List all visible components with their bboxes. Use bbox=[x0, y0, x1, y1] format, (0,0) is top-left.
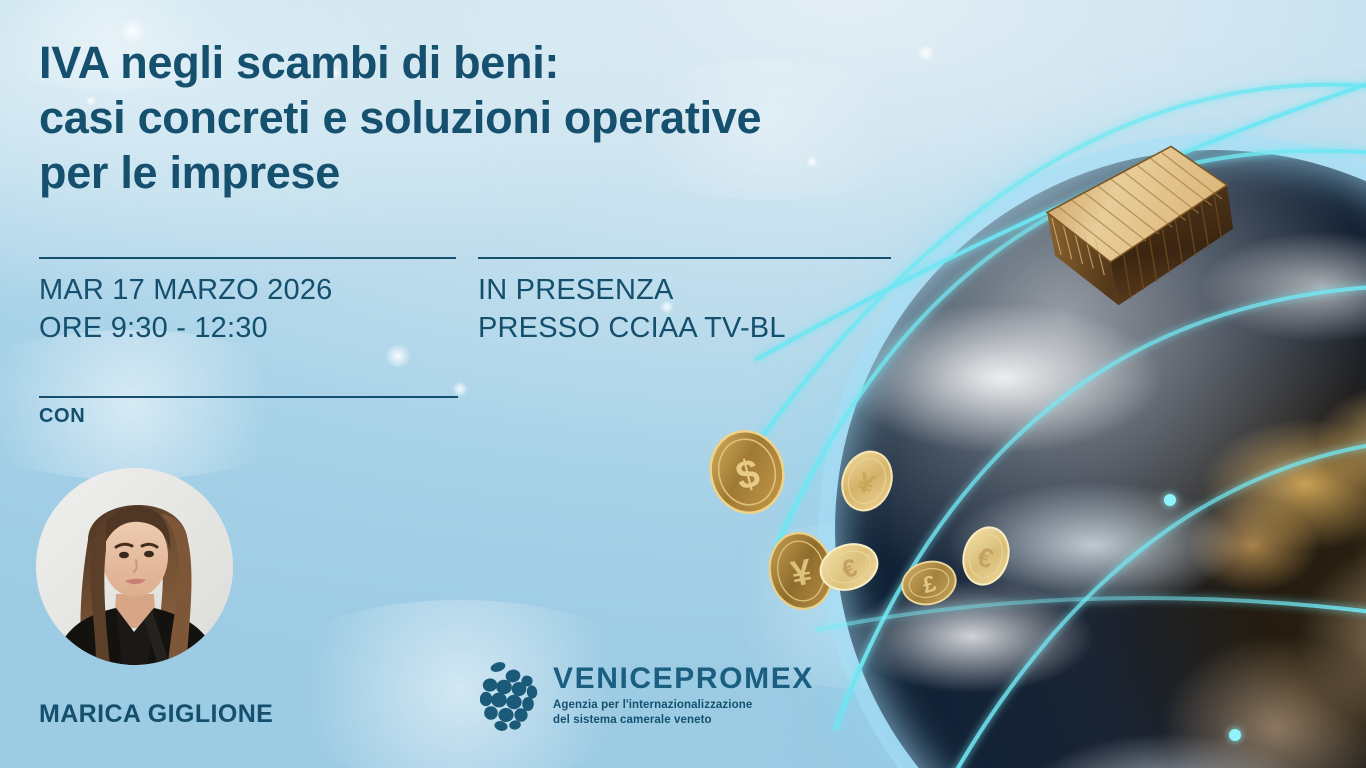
logo-wordmark: VENICEPROMEX bbox=[553, 664, 814, 694]
speaker-section-label: CON bbox=[39, 405, 85, 428]
event-banner: $ ¥ ¥ bbox=[0, 0, 1366, 768]
divider-schedule bbox=[39, 257, 456, 259]
avatar bbox=[36, 468, 233, 665]
event-schedule: MAR 17 MARZO 2026 ORE 9:30 - 12:30 bbox=[39, 272, 333, 347]
divider-location bbox=[478, 257, 891, 259]
event-location: IN PRESENZA PRESSO CCIAA TV-BL bbox=[478, 272, 786, 347]
logo-tagline: Agenzia per l'internazionalizzazione del… bbox=[553, 698, 814, 727]
hexagonal-sphere-logo-icon bbox=[480, 660, 542, 732]
divider-speaker bbox=[39, 396, 458, 398]
page-title: IVA negli scambi di beni: casi concreti … bbox=[39, 36, 939, 201]
speaker-name: MARICA GIGLIONE bbox=[39, 700, 273, 729]
venicepromex-logo: VENICEPROMEX Agenzia per l'internazional… bbox=[480, 660, 814, 732]
